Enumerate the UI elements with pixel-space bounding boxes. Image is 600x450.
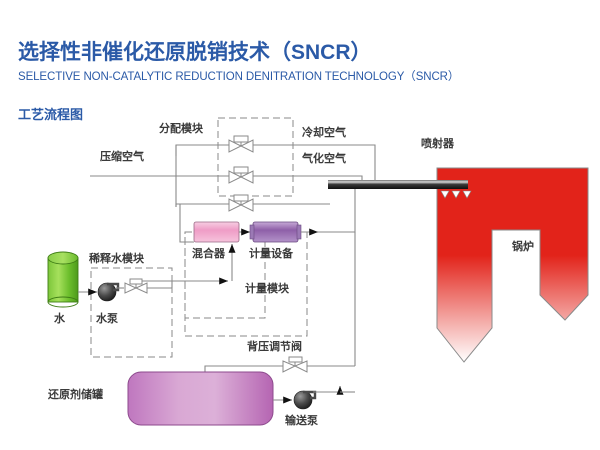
metering-equipment-vessel [253, 222, 298, 242]
label-mixer: 混合器 [192, 245, 225, 261]
label-injector: 喷射器 [421, 135, 454, 151]
pipe-lower-left [176, 204, 229, 207]
water-tank-group [48, 252, 78, 307]
mixer-vessel [194, 222, 239, 242]
slide-page: 选择性非催化还原脱销技术（SNCR） SELECTIVE NON-CATALYT… [0, 0, 600, 450]
pipe-pump-discharge [313, 386, 340, 392]
process-flow-diagram [0, 0, 600, 450]
valve-cooling-air[interactable] [229, 136, 253, 152]
pipe-to-mixer [180, 204, 194, 242]
reductant-tank [128, 372, 273, 425]
label-atomizing-air: 气化空气 [302, 150, 346, 166]
label-transfer-pump: 输送泵 [285, 412, 318, 428]
label-water: 水 [54, 310, 65, 326]
label-water-pump: 水泵 [96, 310, 118, 326]
label-cooling-air: 冷却空气 [302, 124, 346, 140]
boiler-group [437, 168, 588, 362]
label-metering-module: 计量模块 [245, 280, 289, 296]
back-pressure-valve[interactable] [283, 357, 307, 372]
label-distribution-module: 分配模块 [159, 120, 203, 136]
injector-lance [328, 180, 468, 189]
distribution-module-box [218, 118, 293, 196]
transfer-pump[interactable] [294, 391, 315, 409]
boiler-shape [437, 168, 588, 362]
label-compressed-air: 压缩空气 [100, 148, 144, 164]
label-boiler: 锅炉 [512, 238, 534, 254]
label-metering-equipment: 计量设备 [249, 245, 293, 261]
label-reductant-tank: 还原剂储罐 [48, 386, 103, 402]
valve-atomizing-air[interactable] [229, 167, 253, 183]
water-pump[interactable] [98, 283, 118, 301]
metering-inlet-flange [250, 225, 254, 239]
pipe-meter-to-lance [318, 189, 355, 232]
label-dilution-water-module: 稀释水模块 [89, 250, 144, 266]
metering-outlet-flange [297, 225, 301, 239]
pipe-cooling-air-left [176, 145, 229, 156]
water-tank-top [48, 252, 78, 264]
label-back-pressure-valve: 背压调节阀 [247, 338, 302, 354]
water-tank-body [48, 258, 78, 302]
valve-distribution-lower[interactable] [229, 195, 253, 211]
